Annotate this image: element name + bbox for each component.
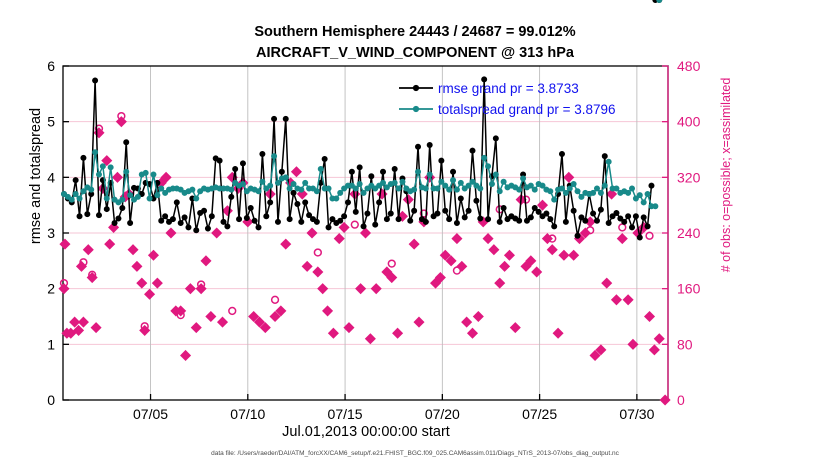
obs-assimilated-marker xyxy=(393,329,402,338)
obs-assimilated-marker xyxy=(655,334,664,343)
series-point xyxy=(501,205,506,210)
series-point xyxy=(392,166,397,171)
series-point xyxy=(194,228,199,233)
series-point xyxy=(104,196,109,201)
y-tick-label-right: 160 xyxy=(677,281,701,297)
obs-assimilated-marker xyxy=(602,279,611,288)
obs-assimilated-marker xyxy=(489,245,498,254)
series-point xyxy=(96,172,101,177)
x-tick-label: 07/05 xyxy=(133,406,168,422)
series-point xyxy=(232,166,237,171)
series-point xyxy=(423,186,428,191)
data-file-footer: data file: /Users/raeder/DAI/ATM_forcXX/… xyxy=(0,450,830,457)
x-tick-label: 07/10 xyxy=(230,406,265,422)
obs-assimilated-marker xyxy=(410,240,419,249)
series-point xyxy=(516,218,521,223)
series-point xyxy=(497,219,502,224)
series-point xyxy=(435,186,440,191)
series-point xyxy=(338,190,343,195)
series-point xyxy=(299,187,304,192)
x-axis-ticks: 07/0507/1007/1507/2007/2507/30 xyxy=(133,394,655,422)
series-point xyxy=(236,216,241,221)
y-tick-label-right: 400 xyxy=(677,114,701,130)
y-axis-label-left: rmse and totalspread xyxy=(28,6,44,346)
y-tick-label-right: 320 xyxy=(677,169,701,185)
obs-assimilated-marker xyxy=(366,334,375,343)
obs-assimilated-marker xyxy=(618,234,627,243)
series-point xyxy=(392,180,397,185)
series-point xyxy=(594,186,599,191)
series-point xyxy=(267,200,272,205)
legend-marker-swatch xyxy=(413,85,419,91)
series-point xyxy=(458,180,463,185)
series-point xyxy=(100,164,105,169)
series-point xyxy=(240,161,245,166)
series-point xyxy=(629,186,634,191)
series-point xyxy=(92,150,97,155)
series-point xyxy=(275,180,280,185)
obs-assimilated-marker xyxy=(415,318,424,327)
series-point xyxy=(256,189,261,194)
obs-assimilated-marker xyxy=(564,173,573,182)
series-point xyxy=(77,214,82,219)
series-point xyxy=(376,200,381,205)
obs-assimilated-marker xyxy=(624,295,633,304)
series-point xyxy=(120,205,125,210)
obs-assimilated-marker xyxy=(468,329,477,338)
obs-assimilated-marker xyxy=(329,329,338,338)
series-point xyxy=(314,189,319,194)
series-point xyxy=(598,207,603,212)
series-point xyxy=(551,197,556,202)
chart-canvas: 012345608016024032040048007/0507/1007/15… xyxy=(0,0,830,470)
x-tick-label: 07/25 xyxy=(522,406,557,422)
series-point xyxy=(291,190,296,195)
obs-assimilated-marker xyxy=(92,323,101,332)
series-point xyxy=(353,186,358,191)
series-point xyxy=(334,196,339,201)
series-point xyxy=(178,220,183,225)
series-point xyxy=(450,169,455,174)
series-point xyxy=(443,208,448,213)
legend-marker-swatch xyxy=(413,106,419,112)
series-point xyxy=(641,200,646,205)
series-point xyxy=(563,219,568,224)
series-point xyxy=(361,224,366,229)
obs-assimilated-marker xyxy=(145,290,154,299)
series-point xyxy=(415,169,420,174)
series-point xyxy=(194,196,199,201)
series-point xyxy=(299,219,304,224)
y-tick-label-left: 4 xyxy=(47,169,55,185)
series-point xyxy=(256,225,261,230)
series-point xyxy=(396,186,401,191)
obs-assimilated-marker xyxy=(612,295,621,304)
obs-possible-marker xyxy=(388,260,395,267)
series-point xyxy=(454,220,459,225)
series-point xyxy=(446,187,451,192)
obs-assimilated-marker xyxy=(645,312,654,321)
series-point xyxy=(645,191,650,196)
series-point xyxy=(645,224,650,229)
series-point xyxy=(575,189,580,194)
series-point xyxy=(594,218,599,223)
series-point xyxy=(544,211,549,216)
obs-assimilated-marker xyxy=(212,229,221,238)
series-point xyxy=(567,186,572,191)
series-point xyxy=(341,214,346,219)
series-rmse xyxy=(61,0,662,240)
series-point xyxy=(112,220,117,225)
obs-assimilated-marker xyxy=(181,351,190,360)
series-point xyxy=(435,211,440,216)
series-point xyxy=(225,224,230,229)
series-point xyxy=(649,183,654,188)
x-tick-label: 07/15 xyxy=(328,406,363,422)
obs-possible-marker xyxy=(314,249,321,256)
series-point xyxy=(291,181,296,186)
series-point xyxy=(221,219,226,224)
series-point xyxy=(244,215,249,220)
series-point xyxy=(489,181,494,186)
series-point xyxy=(583,218,588,223)
series-point xyxy=(470,148,475,153)
series-point xyxy=(396,216,401,221)
series-point xyxy=(143,170,148,175)
series-point xyxy=(548,216,553,221)
series-point xyxy=(353,209,358,214)
obs-possible-marker xyxy=(272,296,279,303)
chart-page: Southern Hemisphere 24443 / 24687 = 99.0… xyxy=(0,0,830,470)
obs-assimilated-marker xyxy=(345,323,354,332)
obs-assimilated-marker xyxy=(372,284,381,293)
series-point xyxy=(427,142,432,147)
series-point xyxy=(361,190,366,195)
series-point xyxy=(551,224,556,229)
obs-assimilated-marker xyxy=(133,262,142,271)
y-axis-label-right: # of obs: o=possible; x=assimilated xyxy=(719,5,733,345)
series-point xyxy=(380,169,385,174)
obs-assimilated-marker xyxy=(318,284,327,293)
obs-assimilated-marker xyxy=(308,229,317,238)
obs-possible-marker xyxy=(351,221,358,228)
obs-assimilated-marker xyxy=(192,323,201,332)
y-tick-label-right: 80 xyxy=(677,336,693,352)
series-point xyxy=(614,210,619,215)
y-tick-label-left: 5 xyxy=(47,114,55,130)
legend-label: totalspread grand pr = 3.8796 xyxy=(438,102,616,117)
series-point xyxy=(633,214,638,219)
series-point xyxy=(369,174,374,179)
series-point xyxy=(563,190,568,195)
obs-assimilated-marker xyxy=(129,245,138,254)
series-point xyxy=(602,153,607,158)
obs-assimilated-marker xyxy=(356,284,365,293)
series-point xyxy=(454,187,459,192)
series-point xyxy=(127,192,132,197)
series-point xyxy=(548,189,553,194)
obs-assimilated-marker xyxy=(84,245,93,254)
obs-assimilated-marker xyxy=(218,318,227,327)
series-point xyxy=(182,215,187,220)
series-point xyxy=(478,216,483,221)
obs-assimilated-marker xyxy=(202,256,211,265)
series-point xyxy=(77,196,82,201)
y-tick-label-left: 2 xyxy=(47,281,55,297)
series-point xyxy=(283,116,288,121)
series-point xyxy=(606,159,611,164)
series-point xyxy=(606,220,611,225)
series-point xyxy=(380,180,385,185)
obs-assimilated-marker xyxy=(554,329,563,338)
series-point xyxy=(264,214,269,219)
series-point xyxy=(497,189,502,194)
series-point xyxy=(326,186,331,191)
series-point xyxy=(400,179,405,184)
x-tick-label: 07/30 xyxy=(619,406,654,422)
legend-label: rmse grand pr = 3.8733 xyxy=(438,81,579,96)
series-point xyxy=(462,215,467,220)
obs-assimilated-marker xyxy=(137,279,146,288)
scatter-assimilated-obs xyxy=(60,117,670,404)
obs-assimilated-marker xyxy=(462,318,471,327)
series-point xyxy=(248,205,253,210)
series-point xyxy=(279,169,284,174)
series-point xyxy=(357,181,362,186)
series-point xyxy=(252,218,257,223)
series-point xyxy=(493,172,498,177)
series-point xyxy=(229,187,234,192)
y-tick-label-left: 0 xyxy=(47,392,55,408)
series-point xyxy=(532,187,537,192)
y-tick-label-left: 3 xyxy=(47,225,55,241)
series-point xyxy=(357,165,362,170)
y-tick-label-right: 240 xyxy=(677,225,701,241)
series-point xyxy=(657,0,662,3)
series-point xyxy=(520,176,525,181)
obs-assimilated-marker xyxy=(560,251,569,260)
series-point xyxy=(365,211,370,216)
series-point xyxy=(159,218,164,223)
series-point xyxy=(338,218,343,223)
series-point xyxy=(186,225,191,230)
obs-assimilated-marker xyxy=(340,223,349,232)
obs-assimilated-marker xyxy=(186,284,195,293)
series-point xyxy=(637,235,642,240)
y-tick-label-left: 6 xyxy=(47,58,55,74)
obs-assimilated-marker xyxy=(105,240,114,249)
series-point xyxy=(201,208,206,213)
series-point xyxy=(493,136,498,141)
obs-assimilated-marker xyxy=(505,251,514,260)
series-point xyxy=(590,190,595,195)
series-point xyxy=(373,222,378,227)
series-point xyxy=(415,144,420,149)
series-point xyxy=(446,216,451,221)
series-point xyxy=(209,214,214,219)
y-tick-label-right: 0 xyxy=(677,392,685,408)
series-point xyxy=(349,169,354,174)
obs-assimilated-marker xyxy=(281,240,290,249)
series-point xyxy=(625,190,630,195)
series-point xyxy=(73,177,78,182)
series-point xyxy=(267,183,272,188)
series-point xyxy=(287,186,292,191)
series-point xyxy=(637,192,642,197)
series-point xyxy=(217,158,222,163)
obs-assimilated-marker xyxy=(153,279,162,288)
series-point xyxy=(104,206,109,211)
series-point xyxy=(559,186,564,191)
obs-assimilated-marker xyxy=(70,318,79,327)
series-point xyxy=(408,218,413,223)
series-point xyxy=(423,219,428,224)
series-point xyxy=(481,155,486,160)
x-axis-label: Jul.01,2013 00:00:00 start xyxy=(63,424,669,440)
series-point xyxy=(458,196,463,201)
series-point xyxy=(240,181,245,186)
series-point xyxy=(384,216,389,221)
series-point xyxy=(271,116,276,121)
series-point xyxy=(229,194,234,199)
series-point xyxy=(629,225,634,230)
series-point xyxy=(174,200,179,205)
series-point xyxy=(283,175,288,180)
series-point xyxy=(260,179,265,184)
series-point xyxy=(571,181,576,186)
series-point xyxy=(205,226,210,231)
obs-assimilated-marker xyxy=(335,234,344,243)
series-point xyxy=(260,151,265,156)
series-point xyxy=(501,179,506,184)
series-point xyxy=(92,78,97,83)
series-point xyxy=(536,209,541,214)
series-point xyxy=(485,216,490,221)
series-point xyxy=(271,153,276,158)
obs-assimilated-marker xyxy=(167,229,176,238)
series-point xyxy=(155,192,160,197)
obs-assimilated-marker xyxy=(548,245,557,254)
obs-assimilated-marker xyxy=(361,229,370,238)
obs-assimilated-marker xyxy=(495,279,504,288)
obs-assimilated-marker xyxy=(292,167,301,176)
obs-assimilated-marker xyxy=(453,234,462,243)
series-point xyxy=(85,211,90,216)
series-point xyxy=(116,216,121,221)
series-point xyxy=(124,169,129,174)
series-point xyxy=(528,215,533,220)
series-point xyxy=(345,200,350,205)
obs-assimilated-marker xyxy=(474,312,483,321)
obs-assimilated-marker xyxy=(313,268,322,277)
series-point xyxy=(69,197,74,202)
series-point xyxy=(625,214,630,219)
obs-assimilated-marker xyxy=(77,262,86,271)
series-point xyxy=(575,233,580,238)
obs-assimilated-marker xyxy=(323,307,332,316)
obs-assimilated-marker xyxy=(79,318,88,327)
obs-assimilated-marker xyxy=(303,262,312,271)
series-point xyxy=(170,216,175,221)
obs-possible-marker xyxy=(229,308,236,315)
series-point xyxy=(411,187,416,192)
y-tick-label-right: 480 xyxy=(677,58,701,74)
series-point xyxy=(81,155,86,160)
obs-assimilated-marker xyxy=(457,262,466,271)
y-axis-left-ticks: 0123456 xyxy=(47,58,69,408)
series-point xyxy=(559,151,564,156)
series-point xyxy=(571,208,576,213)
series-point xyxy=(326,225,331,230)
series-point xyxy=(450,177,455,182)
obs-assimilated-marker xyxy=(500,262,509,271)
series-point xyxy=(302,200,307,205)
y-tick-label-left: 1 xyxy=(47,336,55,352)
obs-possible-marker xyxy=(619,224,626,231)
series-point xyxy=(302,180,307,185)
series-point xyxy=(127,220,132,225)
series-point xyxy=(190,187,195,192)
series-point xyxy=(322,156,327,161)
series-point xyxy=(427,172,432,177)
series-point xyxy=(466,208,471,213)
series-point xyxy=(516,187,521,192)
series-point xyxy=(318,166,323,171)
series-point xyxy=(474,198,479,203)
series-point xyxy=(314,219,319,224)
series-point xyxy=(614,186,619,191)
series-point xyxy=(147,196,152,201)
series-point xyxy=(602,183,607,188)
obs-assimilated-marker xyxy=(206,312,215,321)
series-point xyxy=(295,201,300,206)
series-point xyxy=(120,197,125,202)
series-point xyxy=(478,186,483,191)
obs-assimilated-marker xyxy=(484,234,493,243)
obs-assimilated-marker xyxy=(629,340,638,349)
series-point xyxy=(653,204,658,209)
series-point xyxy=(151,172,156,177)
series-point xyxy=(411,208,416,213)
series-point xyxy=(598,190,603,195)
series-point xyxy=(73,191,78,196)
x-tick-label: 07/20 xyxy=(425,406,460,422)
series-point xyxy=(135,194,140,199)
series-point xyxy=(162,214,167,219)
series-point xyxy=(590,211,595,216)
series-point xyxy=(124,140,129,145)
series-point xyxy=(108,165,113,170)
series-point xyxy=(388,211,393,216)
series-point xyxy=(485,164,490,169)
series-point xyxy=(275,219,280,224)
obs-assimilated-marker xyxy=(650,346,659,355)
series-point xyxy=(287,216,292,221)
obs-assimilated-marker xyxy=(569,251,578,260)
series-point xyxy=(89,187,94,192)
series-point xyxy=(159,186,164,191)
obs-assimilated-marker xyxy=(511,323,520,332)
chart-legend: rmse grand pr = 3.8733totalspread grand … xyxy=(399,81,616,117)
series-point xyxy=(439,158,444,163)
series-point xyxy=(96,212,101,217)
series-point xyxy=(622,219,627,224)
series-point xyxy=(641,215,646,220)
obs-assimilated-marker xyxy=(113,173,122,182)
obs-assimilated-marker xyxy=(61,240,70,249)
